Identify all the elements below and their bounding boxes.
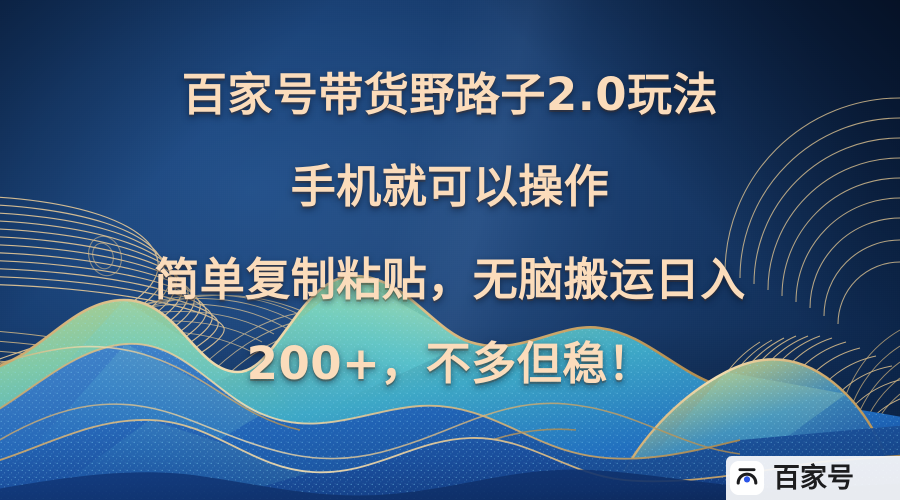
headline-line-2: 手机就可以操作	[0, 150, 900, 215]
headline-line-1: 百家号带货野路子2.0玩法	[0, 58, 900, 123]
baijiahao-bear-paw-icon	[730, 461, 764, 495]
poster-canvas: 百家号带货野路子2.0玩法 手机就可以操作 简单复制粘贴，无脑搬运日入 200+…	[0, 0, 900, 500]
headline-line-4: 200+，不多但稳！	[0, 327, 900, 392]
baijiahao-logo[interactable]: 百家号	[726, 456, 900, 500]
baijiahao-wordmark: 百家号	[773, 465, 854, 492]
headline-line-3: 简单复制粘贴，无脑搬运日入	[0, 243, 900, 308]
